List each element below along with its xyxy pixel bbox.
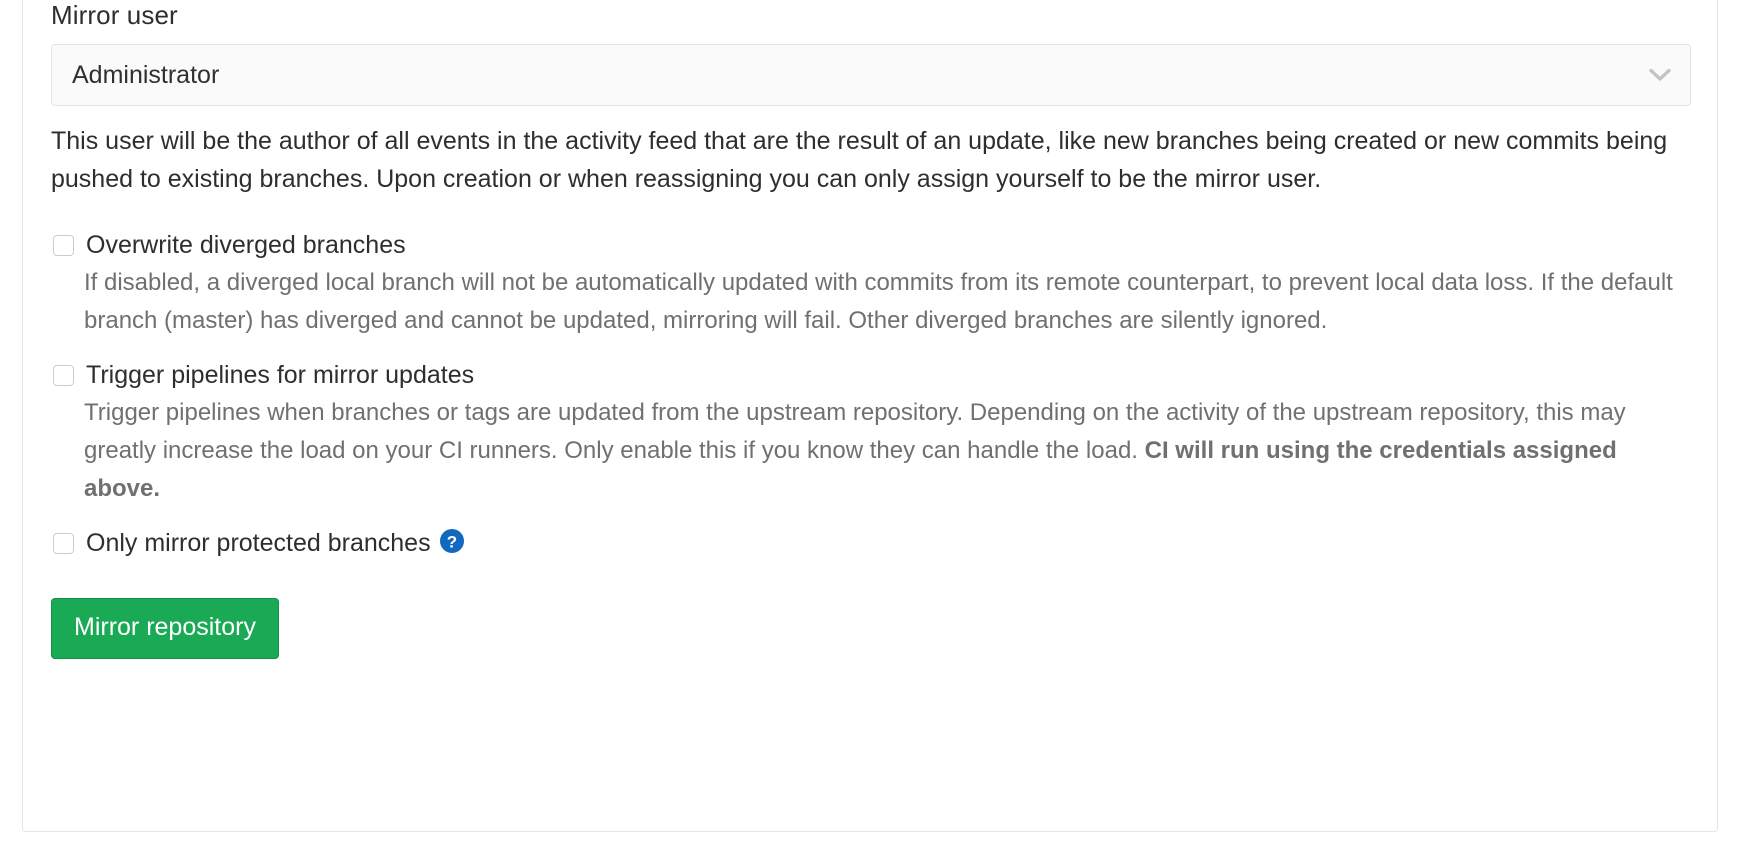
- overwrite-diverged-branches-checkbox[interactable]: [53, 235, 74, 256]
- only-mirror-protected-branches-checkbox[interactable]: [53, 533, 74, 554]
- checkbox-row[interactable]: Only mirror protected branches ?: [51, 524, 1691, 562]
- mirror-user-description: This user will be the author of all even…: [51, 122, 1681, 198]
- only-mirror-protected-branches-label[interactable]: Only mirror protected branches ?: [86, 524, 465, 562]
- trigger-pipelines-for-mirror-updates-label[interactable]: Trigger pipelines for mirror updates: [86, 356, 474, 394]
- mirror-user-select[interactable]: Administrator: [51, 44, 1691, 106]
- mirror-repository-button[interactable]: Mirror repository: [51, 598, 279, 659]
- trigger-pipelines-for-mirror-updates-checkbox[interactable]: [53, 365, 74, 386]
- trigger-pipelines-help: Trigger pipelines when branches or tags …: [84, 394, 1684, 508]
- question-circle-icon[interactable]: ?: [439, 528, 465, 554]
- overwrite-diverged-branches-label[interactable]: Overwrite diverged branches: [86, 226, 406, 264]
- svg-text:?: ?: [446, 533, 456, 552]
- checkbox-group-only-mirror-protected: Only mirror protected branches ?: [51, 524, 1691, 562]
- checkbox-group-overwrite-diverged-branches: Overwrite diverged branches If disabled,…: [51, 226, 1691, 340]
- submit-row: Mirror repository: [51, 598, 1691, 659]
- mirror-settings-body: Mirror user Administrator This user will…: [51, 0, 1691, 659]
- only-mirror-protected-branches-text: Only mirror protected branches: [86, 529, 431, 557]
- overwrite-diverged-branches-help: If disabled, a diverged local branch wil…: [84, 264, 1684, 340]
- mirror-user-select-wrapper: Administrator: [51, 44, 1691, 106]
- checkbox-group-trigger-pipelines: Trigger pipelines for mirror updates Tri…: [51, 356, 1691, 508]
- checkbox-row[interactable]: Trigger pipelines for mirror updates: [51, 356, 1691, 394]
- mirror-user-label: Mirror user: [51, 0, 1691, 30]
- mirror-settings-card: Mirror user Administrator This user will…: [22, 0, 1718, 832]
- checkbox-row[interactable]: Overwrite diverged branches: [51, 226, 1691, 264]
